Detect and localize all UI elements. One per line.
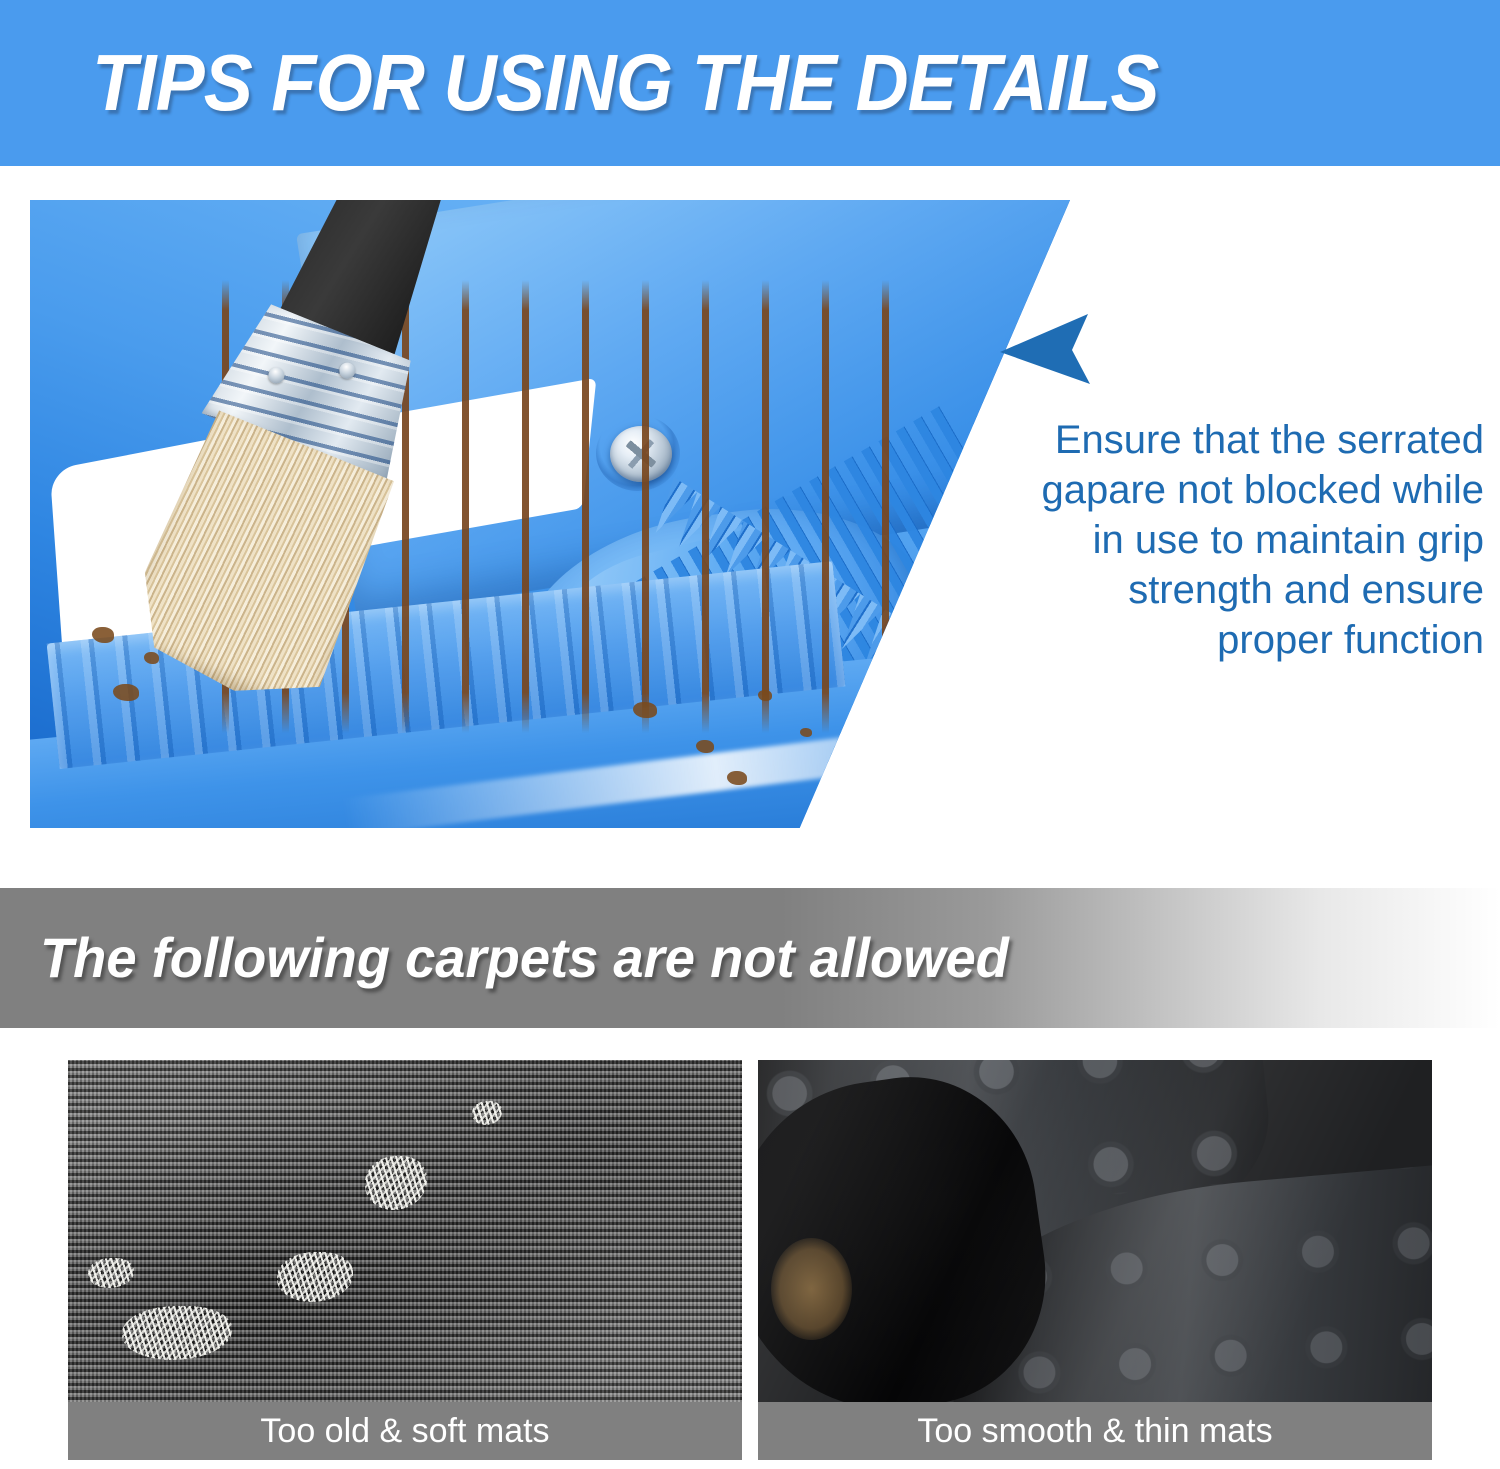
rubber-mat-photo — [758, 1060, 1432, 1402]
section-banner: The following carpets are not allowed — [0, 888, 1500, 1028]
dirt-spot — [758, 690, 772, 701]
callout-paragraph: Ensure that the serrated gapare not bloc… — [1004, 415, 1484, 665]
card-smooth-thin-mats: Too smooth & thin mats — [758, 1060, 1432, 1460]
section-title: The following carpets are not allowed — [40, 930, 1009, 986]
rubber-sheen — [758, 1060, 1432, 1402]
header-banner: TIPS FOR USING THE DETAILS — [0, 0, 1500, 166]
dirt-spot — [113, 684, 139, 701]
dirt-spot — [696, 740, 714, 753]
left-arrow-icon — [1000, 314, 1092, 386]
card-caption: Too old & soft mats — [68, 1402, 742, 1460]
dirt-spot — [800, 728, 812, 737]
rubber-texture — [758, 1060, 1432, 1402]
hero-photo-wrap — [30, 200, 1070, 828]
page-title: TIPS FOR USING THE DETAILS — [92, 43, 1158, 123]
old-carpet-photo — [68, 1060, 742, 1402]
card-caption: Too smooth & thin mats — [758, 1402, 1432, 1460]
product-photo — [30, 200, 1070, 828]
card-row: Too old & soft mats Too smooth & thin ma… — [0, 1060, 1500, 1460]
infographic-page: TIPS FOR USING THE DETAILS — [0, 0, 1500, 1469]
card-old-soft-mats: Too old & soft mats — [68, 1060, 742, 1460]
dirt-spot — [92, 627, 114, 643]
dirt-spot — [144, 652, 159, 664]
